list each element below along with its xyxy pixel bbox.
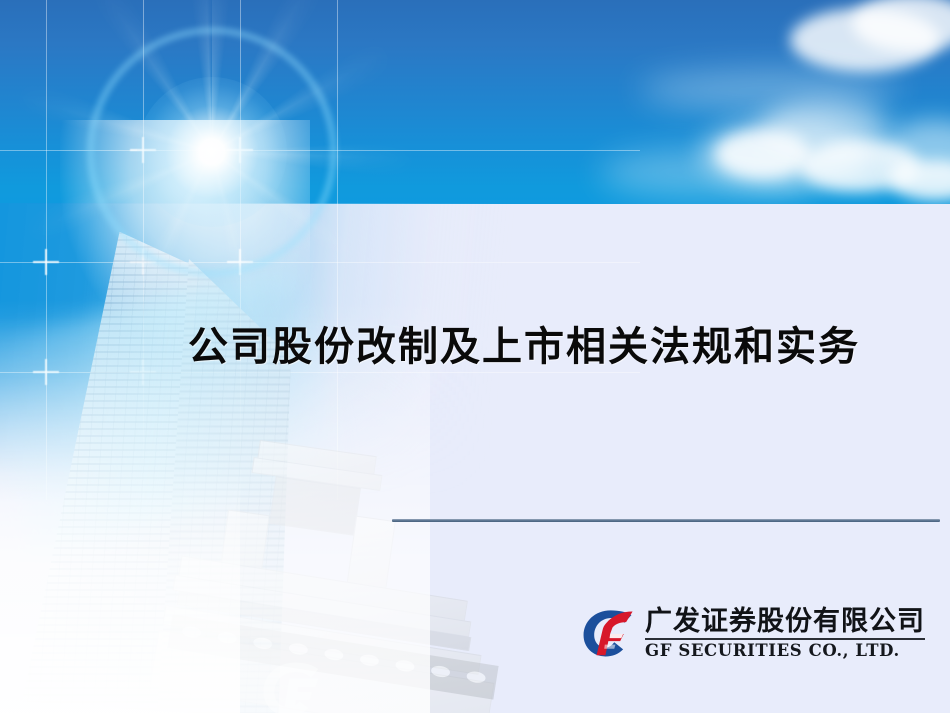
slide-title: 公司股份改制及上市相关法规和实务 (188, 322, 888, 372)
logo-divider (645, 638, 925, 640)
cloud-shape (600, 150, 810, 196)
title-separator-rule (392, 519, 940, 522)
company-name-cn: 广发证券股份有限公司 (645, 608, 925, 635)
cloud-shape (640, 70, 900, 110)
gf-securities-logo-icon (576, 608, 636, 660)
gf-facade-emblem-icon (252, 658, 324, 713)
company-name-en: GF SECURITIES CO., LTD. (645, 643, 925, 660)
company-logo: 广发证券股份有限公司 GF SECURITIES CO., LTD. (576, 608, 925, 660)
sun-flare-icon (137, 77, 287, 227)
presentation-slide: 公司股份改制及上市相关法规和实务 广发证券股份有限公司 GF SECURITIE… (0, 0, 950, 713)
